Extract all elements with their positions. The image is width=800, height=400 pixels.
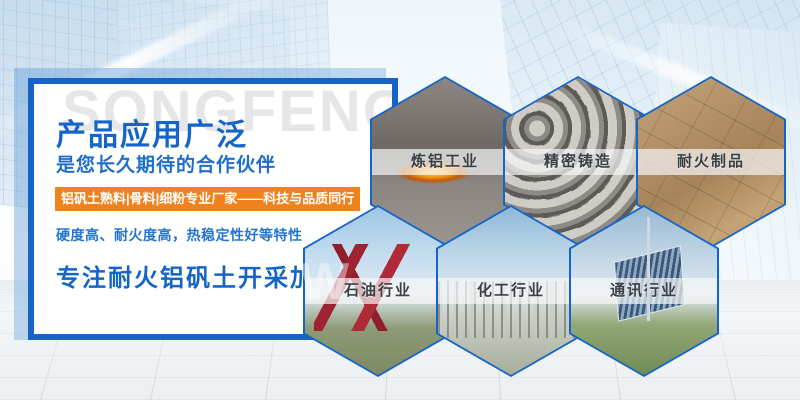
hex-label: 精密铸造	[505, 149, 651, 175]
hex-label: 化工行业	[438, 278, 584, 304]
hex-photo-chemical-industry: 化工行业	[438, 207, 584, 375]
hex-photo-telecom-industry: 通讯行业	[571, 207, 717, 375]
hex-tile-telecom-industry[interactable]: 通讯行业	[569, 205, 719, 377]
hex-label: 石油行业	[305, 278, 451, 304]
hex-tile-oil-industry[interactable]: 石油行业	[303, 205, 453, 377]
hex-tile-chemical-industry[interactable]: 化工行业	[436, 205, 586, 377]
hex-photo-oil-industry: 石油行业	[305, 207, 451, 375]
hexagon-grid: 炼铝工业 精密铸造 耐火制品 石油行业	[0, 0, 800, 400]
hex-label: 通讯行业	[571, 278, 717, 304]
hex-label: 炼铝工业	[372, 149, 518, 175]
hex-label: 耐火制品	[638, 149, 784, 175]
promo-banner: SONGFENG 产品应用广泛 是您长久期待的合作伙伴 铝矾土熟料|骨料|细粉专…	[0, 0, 800, 400]
